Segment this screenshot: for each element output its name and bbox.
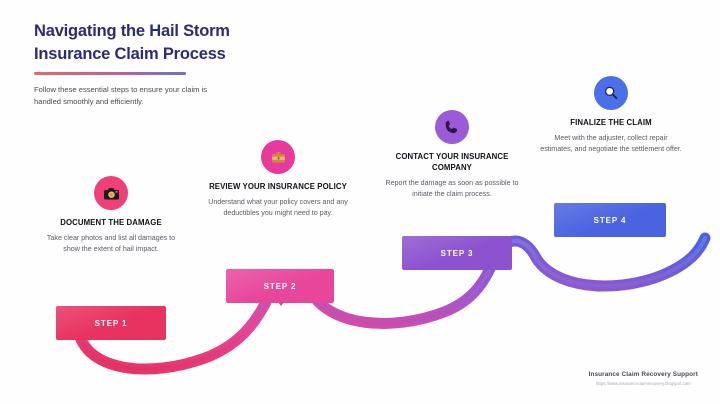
briefcase-icon bbox=[269, 148, 288, 167]
step-3-badge[interactable]: STEP 3 bbox=[402, 236, 512, 270]
page-title-line1: Navigating the Hail Storm bbox=[34, 20, 354, 43]
step-4: FINALIZE THE CLAIM Meet with the adjuste… bbox=[540, 76, 682, 155]
step-1-badge[interactable]: STEP 1 bbox=[56, 306, 166, 340]
step-1-badge-label: STEP 1 bbox=[95, 319, 128, 328]
step-4-circle bbox=[594, 76, 628, 110]
step-1-description: Take clear photos and list all damages t… bbox=[46, 233, 176, 255]
step-4-badge[interactable]: STEP 4 bbox=[554, 203, 666, 237]
page-subtitle: Follow these essential steps to ensure y… bbox=[34, 84, 230, 109]
step-2: REVIEW YOUR INSURANCE POLICY Understand … bbox=[208, 140, 348, 219]
step-2-badge-label: STEP 2 bbox=[264, 282, 297, 291]
step-3-description: Report the damage as soon as possible to… bbox=[382, 178, 522, 200]
page-title-line2: Insurance Claim Process bbox=[34, 43, 354, 66]
step-3: CONTACT YOUR INSURANCE COMPANY Report th… bbox=[382, 110, 522, 200]
step-2-description: Understand what your policy covers and a… bbox=[208, 197, 348, 219]
step-3-heading: CONTACT YOUR INSURANCE COMPANY bbox=[382, 151, 522, 173]
step-1-heading: DOCUMENT THE DAMAGE bbox=[46, 217, 176, 228]
footer: Insurance Claim Recovery Support https:/… bbox=[589, 371, 698, 386]
camera-icon bbox=[102, 184, 121, 203]
step-1-circle bbox=[94, 176, 128, 210]
step-4-description: Meet with the adjuster, collect repair e… bbox=[540, 133, 682, 155]
step-4-heading: FINALIZE THE CLAIM bbox=[540, 117, 682, 128]
infographic-canvas: Navigating the Hail Storm Insurance Clai… bbox=[0, 0, 720, 404]
header: Navigating the Hail Storm Insurance Clai… bbox=[34, 20, 354, 109]
footer-url[interactable]: https://www.insuranceclaimrecovery.blogs… bbox=[589, 381, 698, 386]
title-divider bbox=[34, 72, 186, 75]
step-4-badge-label: STEP 4 bbox=[594, 216, 627, 225]
step-1: DOCUMENT THE DAMAGE Take clear photos an… bbox=[46, 176, 176, 255]
step-2-badge[interactable]: STEP 2 bbox=[226, 269, 334, 303]
step-3-badge-label: STEP 3 bbox=[441, 249, 474, 258]
phone-icon bbox=[443, 118, 461, 136]
footer-title: Insurance Claim Recovery Support bbox=[589, 371, 698, 378]
magnifier-icon bbox=[602, 84, 620, 102]
step-3-circle bbox=[435, 110, 469, 144]
step-2-heading: REVIEW YOUR INSURANCE POLICY bbox=[208, 181, 348, 192]
step-2-circle bbox=[261, 140, 295, 174]
